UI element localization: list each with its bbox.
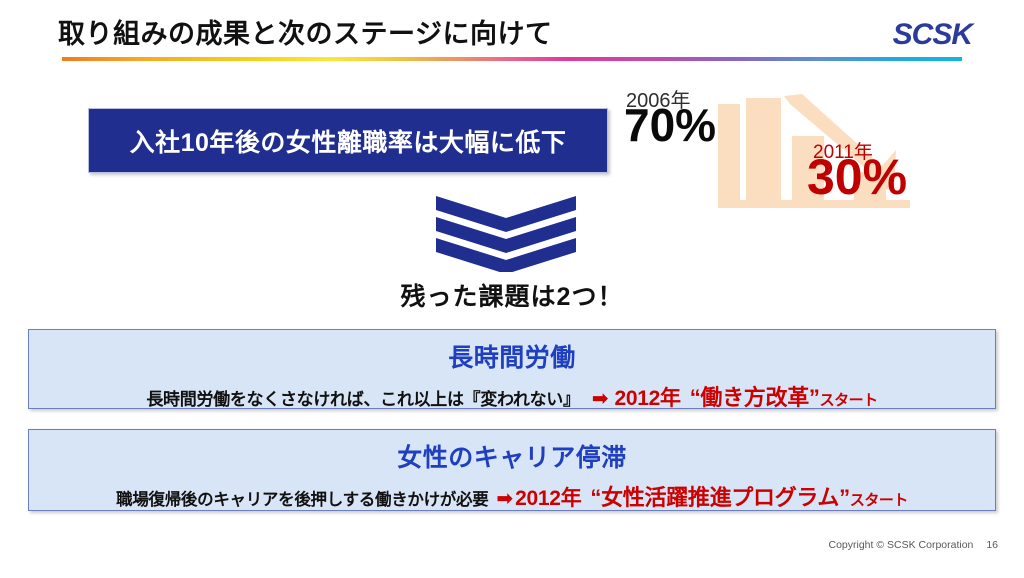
headline-banner-text: 入社10年後の女性離職率は大幅に低下 [130, 123, 567, 159]
page-number: 16 [986, 539, 998, 551]
header-gradient-divider [62, 57, 962, 61]
issue-program-suffix: スタート [850, 489, 908, 510]
stat-value-after: 30% [807, 152, 907, 202]
issue-detail-row: 職場復帰後のキャリアを後押しする働きかけが必要 ➡ 2012年 “女性活躍推進プ… [29, 480, 995, 512]
scsk-logo: SCSK [893, 18, 972, 52]
issue-card-long-working-hours: 長時間労働 長時間労働をなくさなければ、これ以上は『変われない』 ➡ 2012年… [28, 329, 996, 409]
stat-value-before: 70% [624, 102, 716, 148]
headline-banner: 入社10年後の女性離職率は大幅に低下 [88, 108, 608, 173]
issue-program-name: “女性活躍推進プログラム” [590, 480, 849, 512]
issue-card-womens-career-stagnation: 女性のキャリア停滞 職場復帰後のキャリアを後押しする働きかけが必要 ➡ 2012… [28, 429, 996, 511]
declining-rate-graphic: 2006年 70% 2011年 30% [610, 82, 980, 207]
issue-heading: 長時間労働 [29, 338, 995, 374]
bar-chart-axis-bar [718, 104, 740, 207]
right-arrow-icon: ➡ [496, 486, 513, 511]
issue-program-year: 2012年 [614, 382, 680, 412]
issue-heading: 女性のキャリア停滞 [29, 438, 995, 474]
issue-program-suffix: スタート [820, 389, 878, 410]
right-arrow-icon: ➡ [592, 386, 609, 411]
remaining-issues-caption: 残った課題は2つ！ [0, 277, 1024, 313]
slide-footer: Copyright © SCSK Corporation 16 [829, 539, 999, 551]
slide-canvas: 取り組みの成果と次のステージに向けて SCSK 入社10年後の女性離職率は大幅に… [0, 0, 1024, 578]
issue-program-year: 2012年 [515, 482, 581, 512]
issue-program-name: “働き方改革” [690, 380, 820, 412]
issue-detail-text: 職場復帰後のキャリアを後押しする働きかけが必要 [116, 486, 488, 510]
issue-detail-row: 長時間労働をなくさなければ、これ以上は『変われない』 ➡ 2012年 “働き方改… [29, 380, 995, 412]
copyright-text: Copyright © SCSK Corporation [829, 539, 974, 551]
bar-chart-bar-1 [746, 98, 781, 207]
triple-chevron-down-icon [432, 196, 580, 272]
page-title: 取り組みの成果と次のステージに向けて [58, 12, 552, 51]
issue-detail-text: 長時間労働をなくさなければ、これ以上は『変われない』 [146, 385, 579, 410]
slide-header: 取り組みの成果と次のステージに向けて SCSK [0, 0, 1024, 66]
